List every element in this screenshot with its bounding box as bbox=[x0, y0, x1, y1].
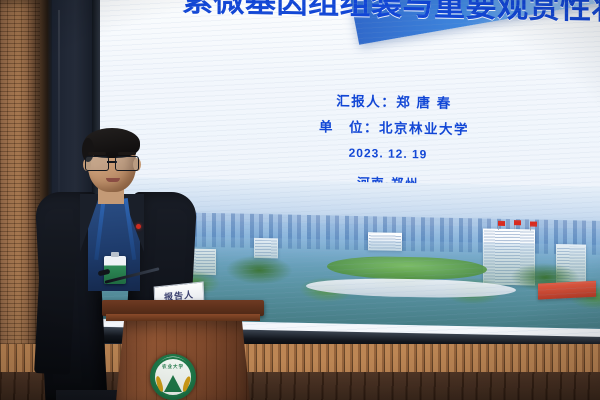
emblem-center-mark bbox=[164, 375, 182, 392]
lens-left bbox=[85, 156, 109, 171]
acoustic-wood-panel-left bbox=[0, 0, 40, 400]
emblem-text: 农业大学 bbox=[150, 364, 196, 370]
badge-clip bbox=[111, 252, 119, 257]
eyeglasses-icon bbox=[85, 156, 139, 170]
lectern-podium: 报告人 农业大学 bbox=[108, 300, 258, 400]
photo-red-roof-pavilion bbox=[538, 281, 596, 300]
photo-flag bbox=[514, 220, 521, 225]
presentation-scene: 紫微基因组组装与重要观赏性状研究 汇报人：郑 唐 春 单 位：北京林业大学 20… bbox=[0, 0, 600, 400]
photo-flag bbox=[530, 221, 537, 226]
podium-lip bbox=[106, 314, 260, 321]
lapel-pin-icon bbox=[136, 224, 141, 229]
mouth bbox=[106, 178, 120, 182]
eyebrow-left bbox=[88, 152, 106, 155]
eyebrow-right bbox=[118, 152, 136, 155]
photo-flag bbox=[498, 221, 505, 226]
university-emblem-icon: 农业大学 bbox=[150, 354, 196, 400]
lens-right bbox=[115, 156, 139, 171]
